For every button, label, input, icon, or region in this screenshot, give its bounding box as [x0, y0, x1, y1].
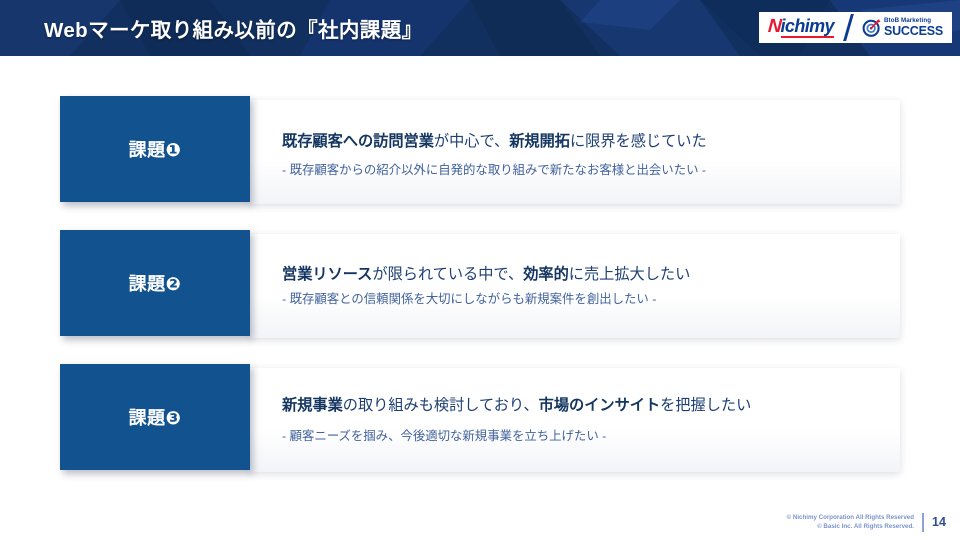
issue-heading: 既存顧客への訪問営業が中心で、新規開拓に限界を感じていた — [282, 132, 886, 153]
issue-heading: 新規事業の取り組みも検討しており、市場のインサイトを把握したい — [282, 396, 886, 417]
heading-emphasis: 新規事業 — [282, 397, 343, 414]
issue-subtext: ‐ 既存顧客からの紹介以外に自発的な取り組みで新たなお客様と出会いたい ‐ — [282, 162, 886, 178]
slide-footer: © Nichimy Corporation All Rights Reserve… — [787, 513, 946, 532]
heading-plain: に売上拡大したい — [569, 266, 691, 283]
copyright-line-1: © Nichimy Corporation All Rights Reserve… — [787, 513, 914, 523]
issue-heading: 営業リソースが限られている中で、効率的に売上拡大したい — [282, 265, 886, 286]
heading-emphasis: 営業リソース — [282, 266, 372, 283]
page-title: Webマーケ取り組み以前の『社内課題』 — [44, 13, 423, 43]
nichimy-logo: N ichimy — [768, 17, 834, 38]
issue-badge-label: 課題❷ — [129, 270, 182, 296]
issue-badge-label: 課題❶ — [129, 136, 182, 162]
heading-plain: に限界を感じていた — [570, 133, 707, 150]
heading-plain: が中心で、 — [434, 133, 509, 150]
slide-header: Webマーケ取り組み以前の『社内課題』 N ichimy BtoB Market… — [0, 0, 960, 56]
issue-card-text: 新規事業の取り組みも検討しており、市場のインサイトを把握したい ‐ 顧客ニーズを… — [250, 364, 900, 476]
nichimy-logo-text: ichimy — [781, 17, 834, 38]
success-logo-text: BtoB Marketing SUCCESS — [884, 18, 943, 38]
logo-plate: N ichimy BtoB Marketing SUCCESS — [759, 12, 952, 43]
heading-plain: の取り組みも検討しており、 — [343, 397, 539, 414]
issue-card-badge: 課題❷ — [60, 230, 250, 336]
issue-subtext: ‐ 顧客ニーズを掴み、今後適切な新規事業を立ち上げたい ‐ — [282, 428, 886, 444]
heading-plain: が限られている中で、 — [372, 266, 523, 283]
copyright-block: © Nichimy Corporation All Rights Reserve… — [787, 513, 914, 532]
heading-emphasis: 効率的 — [523, 266, 569, 283]
heading-plain: を把握したい — [660, 397, 751, 414]
target-icon — [862, 18, 881, 37]
footer-divider — [922, 513, 924, 532]
heading-emphasis: 既存顧客への訪問営業 — [282, 133, 434, 150]
nichimy-n-mark: N — [768, 17, 782, 36]
issue-card-badge: 課題❶ — [60, 96, 250, 202]
success-tagline: BtoB Marketing — [884, 18, 943, 24]
page-number: 14 — [932, 515, 946, 529]
issue-card: 課題❷ 営業リソースが限られている中で、効率的に売上拡大したい ‐ 既存顧客との… — [60, 230, 900, 342]
issue-card-list: 課題❶ 既存顧客への訪問営業が中心で、新規開拓に限界を感じていた ‐ 既存顧客か… — [0, 96, 960, 498]
copyright-line-2: © Basic Inc. All Rights Reserved. — [787, 522, 914, 532]
issue-card-text: 既存顧客への訪問営業が中心で、新規開拓に限界を感じていた ‐ 既存顧客からの紹介… — [250, 96, 900, 208]
issue-card: 課題❸ 新規事業の取り組みも検討しており、市場のインサイトを把握したい ‐ 顧客… — [60, 364, 900, 476]
issue-badge-label: 課題❸ — [129, 404, 182, 430]
issue-card-text: 営業リソースが限られている中で、効率的に売上拡大したい ‐ 既存顧客との信頼関係… — [250, 230, 900, 342]
issue-card: 課題❶ 既存顧客への訪問営業が中心で、新規開拓に限界を感じていた ‐ 既存顧客か… — [60, 96, 900, 208]
issue-card-badge: 課題❸ — [60, 364, 250, 470]
issue-subtext: ‐ 既存顧客との信頼関係を大切にしながらも新規案件を創出したい ‐ — [282, 291, 886, 307]
heading-emphasis: 新規開拓 — [509, 133, 570, 150]
slide: Webマーケ取り組み以前の『社内課題』 N ichimy BtoB Market… — [0, 0, 960, 540]
success-logo: BtoB Marketing SUCCESS — [862, 18, 943, 38]
heading-emphasis: 市場のインサイト — [539, 397, 661, 414]
logo-slash-divider — [841, 14, 855, 41]
success-wordmark: SUCCESS — [884, 25, 943, 38]
